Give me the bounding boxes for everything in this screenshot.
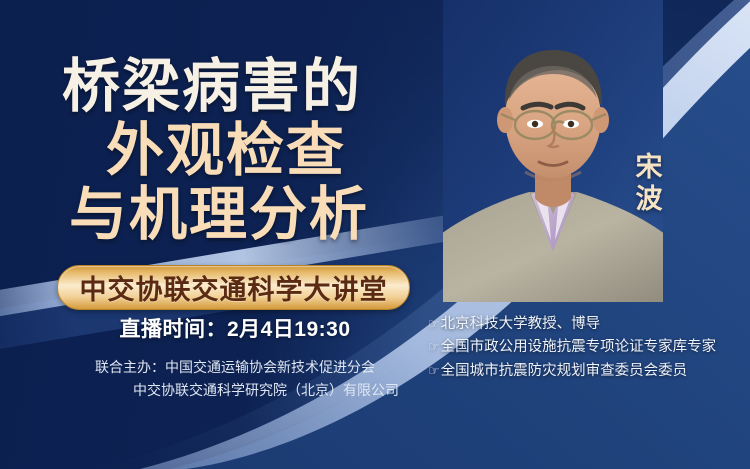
webinar-poster: 桥梁病害的 外观检查 与机理分析 中交协联交通科学大讲堂 直播时间：2月4日19… (0, 0, 750, 469)
brand-pill-banner: 中交协联交通科学大讲堂 (57, 265, 410, 310)
credential-text: 全国城市抗震防灾规划审查委员会委员 (441, 360, 688, 383)
title-line-3: 与机理分析 (8, 186, 430, 244)
portrait-illustration (443, 0, 663, 302)
speaker-name: 宋 波 (627, 152, 671, 216)
speaker-credentials: ☞ 北京科技大学教授、博导 ☞ 全国市政公用设施抗震专项论证专家库专家 ☞ 全国… (428, 313, 716, 383)
pointing-hand-icon: ☞ (428, 336, 440, 358)
speaker-portrait (443, 0, 663, 302)
live-time-text: 直播时间：2月4日19:30 (0, 313, 470, 343)
speaker-name-char-2: 波 (627, 184, 671, 216)
credential-text: 北京科技大学教授、博导 (441, 313, 601, 336)
poster-title: 桥梁病害的 外观检查 与机理分析 (0, 58, 430, 244)
speaker-name-char-1: 宋 (627, 152, 671, 184)
brand-pill-label: 中交协联交通科学大讲堂 (80, 268, 388, 307)
organizer-line-1: 联合主办：中国交通运输协会新技术促进分会 (0, 356, 470, 379)
title-line-1: 桥梁病害的 (0, 58, 430, 116)
credential-text: 全国市政公用设施抗震专项论证专家库专家 (441, 336, 717, 359)
organizer-line-2: 中交协联交通科学研究院（北京）有限公司 (0, 379, 470, 402)
credential-item: ☞ 北京科技大学教授、博导 (428, 313, 716, 336)
organizer-block: 联合主办：中国交通运输协会新技术促进分会 中交协联交通科学研究院（北京）有限公司 (0, 356, 470, 402)
pointing-hand-icon: ☞ (428, 360, 440, 382)
title-line-2: 外观检查 (22, 122, 430, 180)
credential-item: ☞ 全国城市抗震防灾规划审查委员会委员 (428, 360, 716, 383)
credential-item: ☞ 全国市政公用设施抗震专项论证专家库专家 (428, 336, 716, 359)
pointing-hand-icon: ☞ (428, 313, 440, 335)
